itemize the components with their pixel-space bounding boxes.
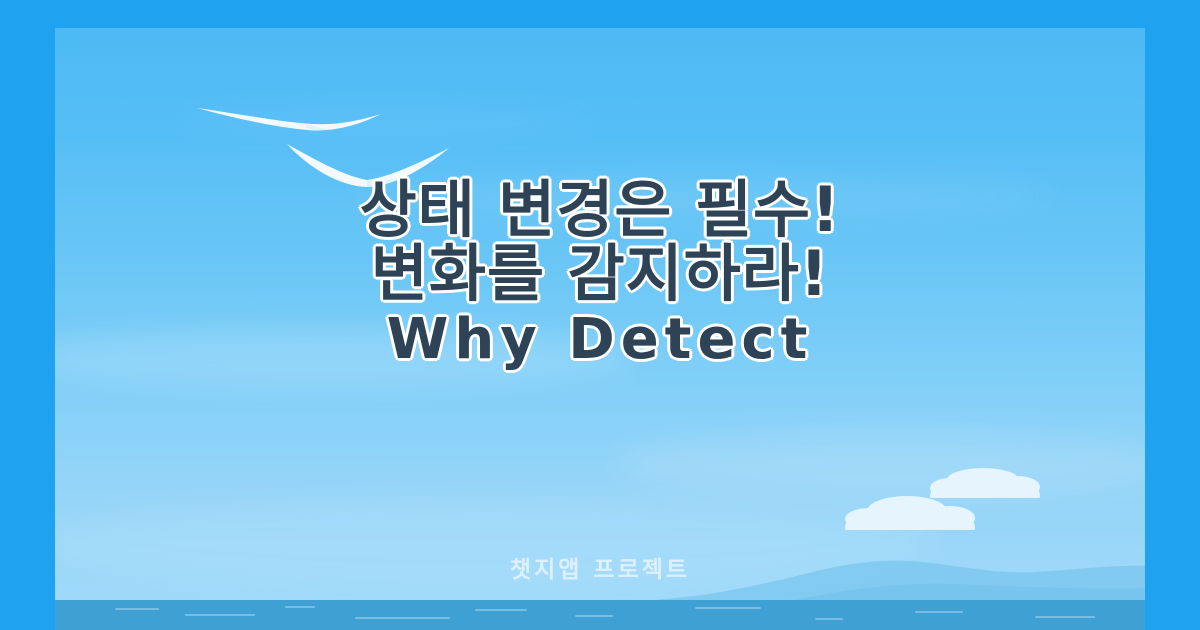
poster-card: 챗지앱 프로젝트 상태 변경은 필수! 변화를 감지하라! Why Detect bbox=[0, 0, 1200, 630]
sea-band bbox=[55, 600, 1145, 630]
headline-line-3: Why Detect bbox=[0, 311, 1200, 369]
seagull-upper-icon bbox=[195, 98, 385, 138]
cloud-right-icon bbox=[930, 468, 1040, 498]
sky-haze-band bbox=[615, 428, 1145, 498]
watermark-text: 챗지앱 프로젝트 bbox=[55, 550, 1145, 584]
page-title: 상태 변경은 필수! 변화를 감지하라! Why Detect bbox=[0, 178, 1200, 369]
headline-line-1: 상태 변경은 필수! bbox=[0, 178, 1200, 242]
headline-line-2: 변화를 감지하라! bbox=[0, 242, 1200, 306]
cloud-left-icon bbox=[845, 496, 975, 530]
